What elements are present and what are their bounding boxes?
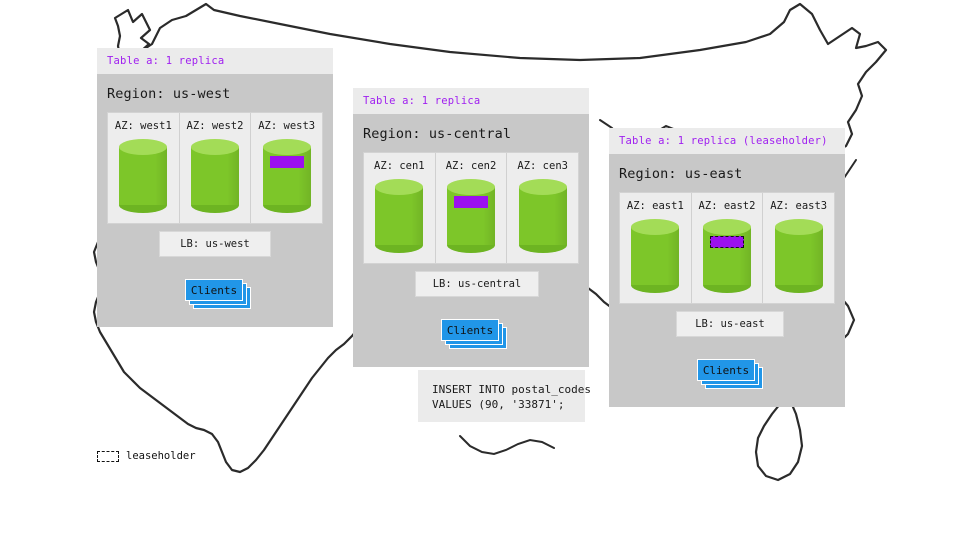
legend-label: leaseholder [126, 450, 196, 462]
az-cell-cen2[interactable]: AZ: cen2 [436, 153, 508, 263]
az-cell-east1[interactable]: AZ: east1 [620, 193, 692, 303]
diagram-canvas: 2 Table a: 1 replica Region: us-west AZ:… [0, 0, 960, 540]
az-cell-east2[interactable]: AZ: east2 [692, 193, 764, 303]
sql-statement-box: INSERT INTO postal_codes VALUES (90, '33… [418, 370, 585, 422]
node-cylinder-west3[interactable] [263, 139, 311, 213]
clients-label: Clients [191, 284, 237, 297]
cylinder-shade [227, 147, 239, 205]
load-balancer-us-west[interactable]: LB: us-west [159, 231, 271, 257]
az-cell-west3[interactable]: AZ: west3 [251, 113, 322, 223]
cylinder-shade [667, 227, 679, 285]
cylinder-top [775, 219, 823, 235]
clients-label: Clients [447, 324, 493, 337]
az-label-west3: AZ: west3 [258, 120, 315, 132]
cylinder-top [375, 179, 423, 195]
replica-block-west3[interactable] [270, 156, 304, 168]
az-row-us-east: AZ: east1 AZ: east2 [619, 192, 835, 304]
region-title-us-central: Region: us-central [353, 114, 589, 152]
clients-card-front[interactable]: Clients [697, 359, 755, 381]
cylinder-shade [411, 187, 423, 245]
az-label-east2: AZ: east2 [699, 200, 756, 212]
cylinder-top [519, 179, 567, 195]
cylinder-shade [155, 147, 167, 205]
az-cell-cen1[interactable]: AZ: cen1 [364, 153, 436, 263]
region-title-us-west: Region: us-west [97, 74, 333, 112]
clients-stack-us-central[interactable]: Clients [441, 319, 507, 349]
region-panel-us-central: Table a: 1 replica Region: us-central AZ… [353, 88, 589, 367]
load-balancer-us-central[interactable]: LB: us-central [415, 271, 539, 297]
region-title-us-east: Region: us-east [609, 154, 845, 192]
az-cell-west1[interactable]: AZ: west1 [108, 113, 180, 223]
cylinder-top [119, 139, 167, 155]
az-row-us-west: AZ: west1 AZ: west2 [107, 112, 323, 224]
clients-stack-us-east[interactable]: Clients [697, 359, 763, 389]
az-cell-west2[interactable]: AZ: west2 [180, 113, 252, 223]
node-cylinder-cen2[interactable] [447, 179, 495, 253]
cylinder-top [631, 219, 679, 235]
clients-label: Clients [703, 364, 749, 377]
clients-card-front[interactable]: Clients [185, 279, 243, 301]
az-cell-cen3[interactable]: AZ: cen3 [507, 153, 578, 263]
node-cylinder-east2[interactable] [703, 219, 751, 293]
az-label-cen2: AZ: cen2 [446, 160, 497, 172]
cylinder-top [191, 139, 239, 155]
node-cylinder-east3[interactable] [775, 219, 823, 293]
clients-stack-us-west[interactable]: Clients [185, 279, 251, 309]
cylinder-top [447, 179, 495, 195]
load-balancer-us-east[interactable]: LB: us-east [676, 311, 784, 337]
az-label-west1: AZ: west1 [115, 120, 172, 132]
region-panel-us-west: Table a: 1 replica Region: us-west AZ: w… [97, 48, 333, 327]
node-cylinder-cen3[interactable] [519, 179, 567, 253]
node-cylinder-west1[interactable] [119, 139, 167, 213]
legend-leaseholder: leaseholder [97, 450, 196, 462]
node-cylinder-west2[interactable] [191, 139, 239, 213]
dashed-rectangle-icon [97, 451, 119, 462]
table-replica-header-us-west: Table a: 1 replica [97, 48, 333, 74]
table-replica-header-us-central: Table a: 1 replica [353, 88, 589, 114]
cylinder-shade [810, 227, 822, 285]
replica-block-cen2[interactable] [454, 196, 488, 208]
az-label-west2: AZ: west2 [187, 120, 244, 132]
table-replica-header-us-east: Table a: 1 replica (leaseholder) [609, 128, 845, 154]
node-cylinder-east1[interactable] [631, 219, 679, 293]
az-label-east3: AZ: east3 [770, 200, 827, 212]
cylinder-top [263, 139, 311, 155]
cylinder-top [703, 219, 751, 235]
az-cell-east3[interactable]: AZ: east3 [763, 193, 834, 303]
cylinder-shade [554, 187, 566, 245]
az-label-cen1: AZ: cen1 [374, 160, 425, 172]
az-label-cen3: AZ: cen3 [517, 160, 568, 172]
clients-card-front[interactable]: Clients [441, 319, 499, 341]
node-cylinder-cen1[interactable] [375, 179, 423, 253]
replica-block-east2-leaseholder[interactable] [710, 236, 744, 248]
az-label-east1: AZ: east1 [627, 200, 684, 212]
az-row-us-central: AZ: cen1 AZ: cen2 [363, 152, 579, 264]
region-panel-us-east: Table a: 1 replica (leaseholder) Region:… [609, 128, 845, 407]
